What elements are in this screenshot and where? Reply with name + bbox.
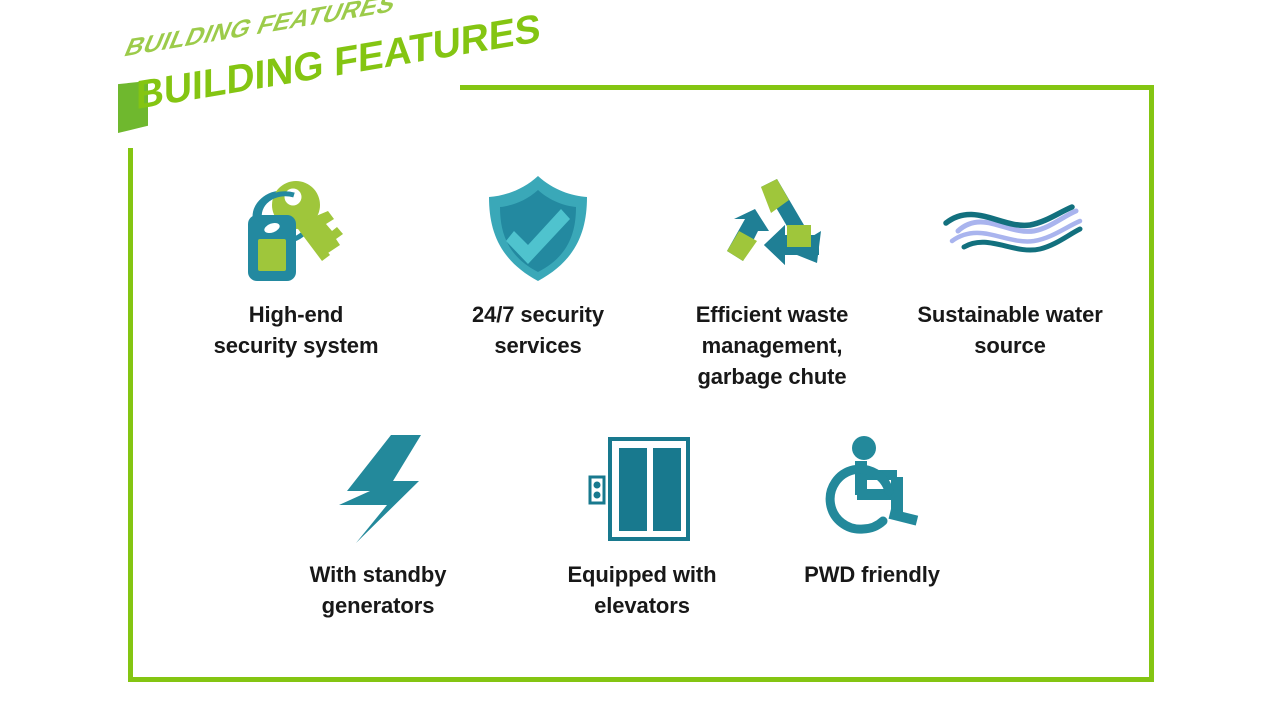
- feature-label: Sustainable water source: [900, 299, 1120, 361]
- feature-sustainable-water-source: Sustainable water source: [900, 175, 1120, 361]
- wheelchair-accessible-icon: [762, 435, 982, 545]
- frame-border-bottom: [128, 677, 1154, 682]
- recycle-icon: [662, 175, 882, 285]
- keys-icon: [186, 175, 406, 285]
- feature-waste-management: Efficient waste management, garbage chut…: [662, 175, 882, 393]
- feature-security-services: 24/7 security services: [428, 175, 648, 361]
- feature-pwd-friendly: PWD friendly: [762, 435, 982, 590]
- page-title-banner: BUILDING FEATURES BUILDING FEATURES: [110, 28, 490, 148]
- slide-canvas: BUILDING FEATURES BUILDING FEATURES: [0, 0, 1280, 720]
- feature-label: With standby generators: [268, 559, 488, 621]
- frame-border-top: [460, 85, 1154, 90]
- feature-label: PWD friendly: [762, 559, 982, 590]
- feature-high-end-security-system: High-end security system: [186, 175, 406, 361]
- feature-label: Efficient waste management, garbage chut…: [662, 299, 882, 393]
- feature-standby-generators: With standby generators: [268, 435, 488, 621]
- feature-label: High-end security system: [186, 299, 406, 361]
- frame-border-right: [1149, 85, 1154, 682]
- feature-label: 24/7 security services: [428, 299, 648, 361]
- water-waves-icon: [900, 175, 1120, 285]
- feature-elevators: Equipped with elevators: [532, 435, 752, 621]
- lightning-bolt-icon: [268, 435, 488, 545]
- frame-border-left: [128, 148, 133, 682]
- feature-label: Equipped with elevators: [532, 559, 752, 621]
- elevator-icon: [532, 435, 752, 545]
- shield-check-icon: [428, 175, 648, 285]
